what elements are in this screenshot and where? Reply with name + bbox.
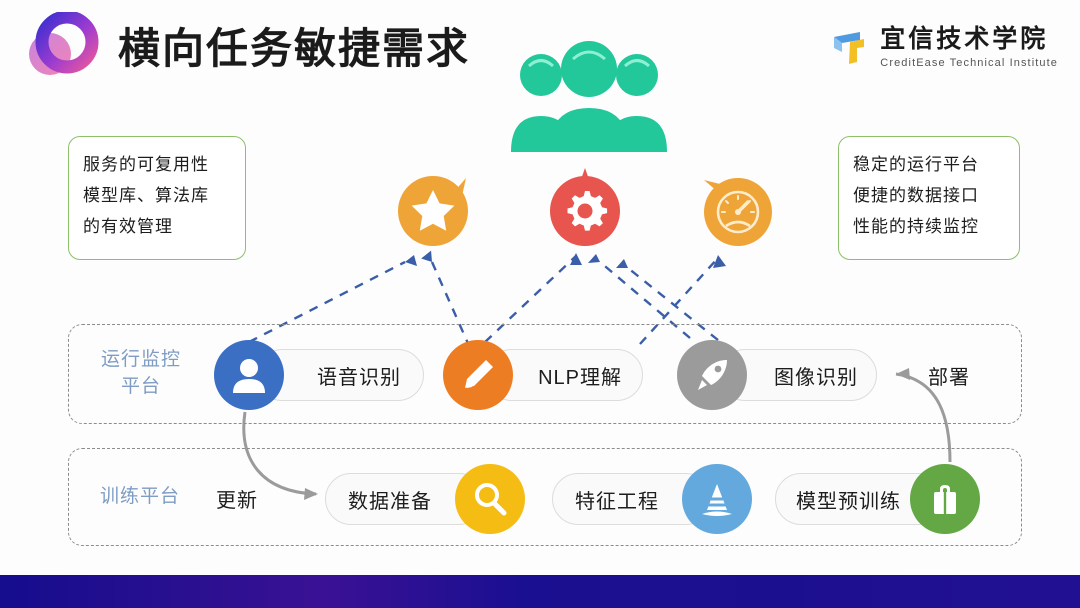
note-right-line-3: 性能的持续监控 — [853, 211, 1005, 242]
person-icon — [214, 340, 284, 410]
note-left-line-2: 模型库、算法库 — [83, 180, 231, 211]
search-icon — [455, 464, 525, 534]
run-platform-label-line1: 运行监控 — [86, 346, 196, 373]
node-image-recognition-label: 图像识别 — [774, 361, 858, 390]
run-platform-label: 运行监控 平台 — [86, 346, 196, 400]
node-model-pretraining[interactable]: 模型预训练 — [775, 464, 980, 534]
three-people-icon — [505, 30, 673, 152]
node-data-preparation-label: 数据准备 — [348, 485, 432, 514]
pencil-icon — [443, 340, 513, 410]
note-right-line-1: 稳定的运行平台 — [853, 149, 1005, 180]
train-platform-label: 训练平台 — [80, 483, 200, 510]
slide-canvas: 横向任务敏捷需求 宜信技术学院 CreditEase Technical Ins… — [0, 0, 1080, 608]
note-left-line-1: 服务的可复用性 — [83, 149, 231, 180]
node-speech-recognition[interactable]: 语音识别 — [214, 340, 424, 410]
briefcase-icon — [910, 464, 980, 534]
page-title: 横向任务敏捷需求 — [118, 18, 470, 80]
footer-band — [0, 575, 1080, 608]
node-speech-recognition-label: 语音识别 — [317, 361, 401, 390]
node-nlp-understanding[interactable]: NLP理解 — [443, 340, 643, 410]
brand-logo: 宜信技术学院 CreditEase Technical Institute — [830, 26, 1058, 69]
gauge-bubble — [700, 174, 774, 248]
node-data-preparation[interactable]: 数据准备 — [325, 464, 525, 534]
rocket-icon — [677, 340, 747, 410]
overlapping-circles-logo-icon — [22, 12, 102, 80]
star-bubble — [396, 172, 470, 246]
tc-logo-icon — [830, 28, 870, 66]
brand-name-en: CreditEase Technical Institute — [880, 57, 1058, 69]
traffic-cone-icon — [682, 464, 752, 534]
run-platform-label-line2: 平台 — [86, 373, 196, 400]
node-image-recognition[interactable]: 图像识别 — [677, 340, 877, 410]
node-model-pretraining-label: 模型预训练 — [796, 485, 901, 514]
gauge-icon — [700, 174, 774, 248]
gear-bubble — [548, 168, 622, 242]
node-nlp-understanding-label: NLP理解 — [538, 361, 622, 390]
note-box-right: 稳定的运行平台 便捷的数据接口 性能的持续监控 — [838, 136, 1020, 260]
note-right-line-2: 便捷的数据接口 — [853, 180, 1005, 211]
note-box-left: 服务的可复用性 模型库、算法库 的有效管理 — [68, 136, 246, 260]
node-feature-engineering[interactable]: 特征工程 — [552, 464, 752, 534]
brand-name-cn: 宜信技术学院 — [880, 26, 1058, 54]
node-feature-engineering-label: 特征工程 — [575, 485, 659, 514]
star-icon — [396, 172, 470, 246]
note-left-line-3: 的有效管理 — [83, 211, 231, 242]
deploy-flow-label: 部署 — [928, 361, 970, 390]
update-flow-label: 更新 — [216, 484, 258, 513]
gear-icon — [548, 168, 622, 246]
